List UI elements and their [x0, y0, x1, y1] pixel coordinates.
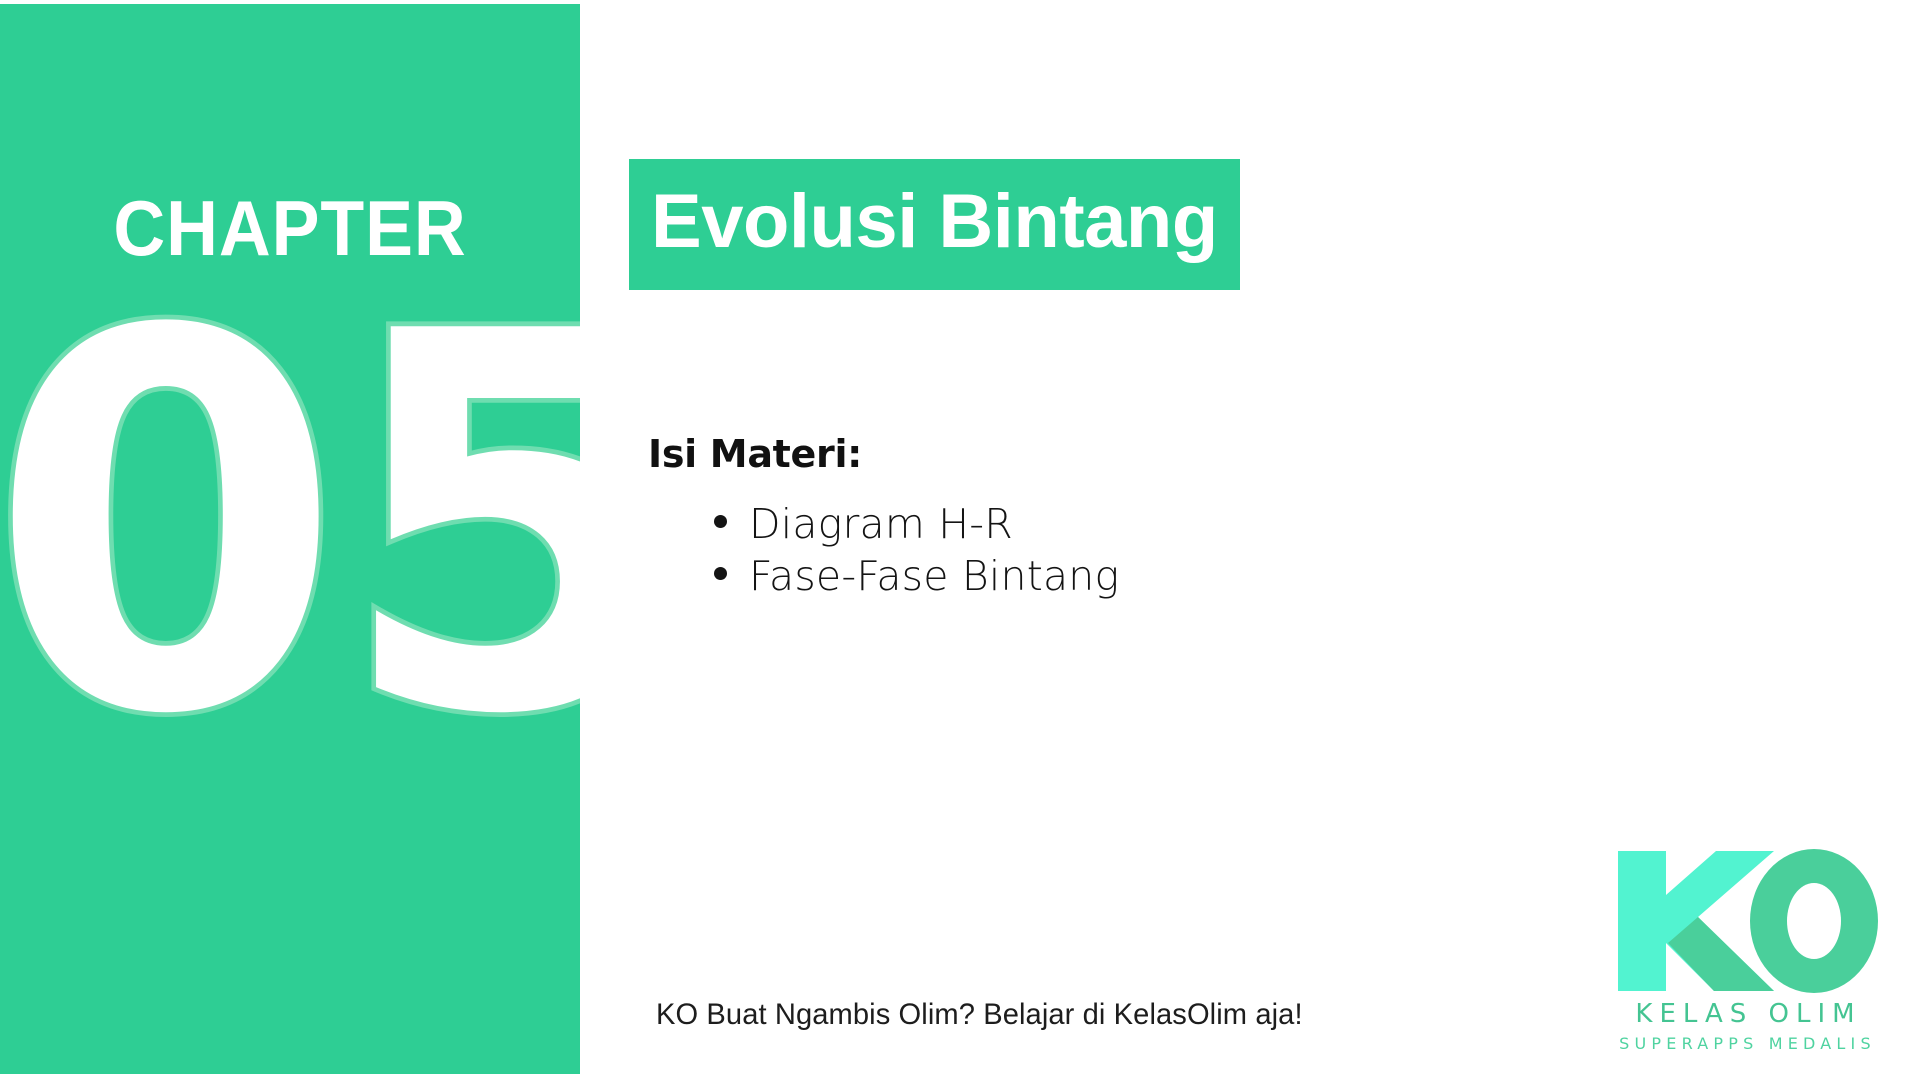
- logo-subcaption: SUPERAPPS MEDALIS: [1600, 1035, 1890, 1053]
- chapter-sidebar: CHAPTER 05: [0, 4, 580, 1074]
- list-item-label: Fase-Fase Bintang: [749, 550, 1119, 602]
- kelas-olim-logo: KELAS OLIM SUPERAPPS MEDALIS: [1600, 845, 1890, 1060]
- page-title: Evolusi Bintang: [651, 184, 1218, 260]
- ko-monogram-icon: [1612, 845, 1882, 997]
- logo-caption: KELAS OLIM: [1600, 1000, 1890, 1029]
- chapter-number: 05: [0, 266, 580, 785]
- content-block: Isi Materi: Diagram H-R Fase-Fase Bintan…: [648, 434, 1548, 603]
- footer-note: KO Buat Ngambis Olim? Belajar di KelasOl…: [656, 998, 1303, 1032]
- list-item: Fase-Fase Bintang: [648, 550, 1548, 602]
- list-item-label: Diagram H-R: [749, 498, 1013, 550]
- topic-list: Diagram H-R Fase-Fase Bintang: [648, 498, 1548, 603]
- section-heading: Isi Materi:: [648, 434, 1548, 476]
- title-banner: Evolusi Bintang: [629, 159, 1240, 290]
- bullet-dot-icon: [714, 515, 727, 528]
- bullet-dot-icon: [714, 567, 727, 580]
- list-item: Diagram H-R: [648, 498, 1548, 550]
- slide-canvas: CHAPTER 05 Evolusi Bintang Isi Materi: D…: [0, 0, 1920, 1080]
